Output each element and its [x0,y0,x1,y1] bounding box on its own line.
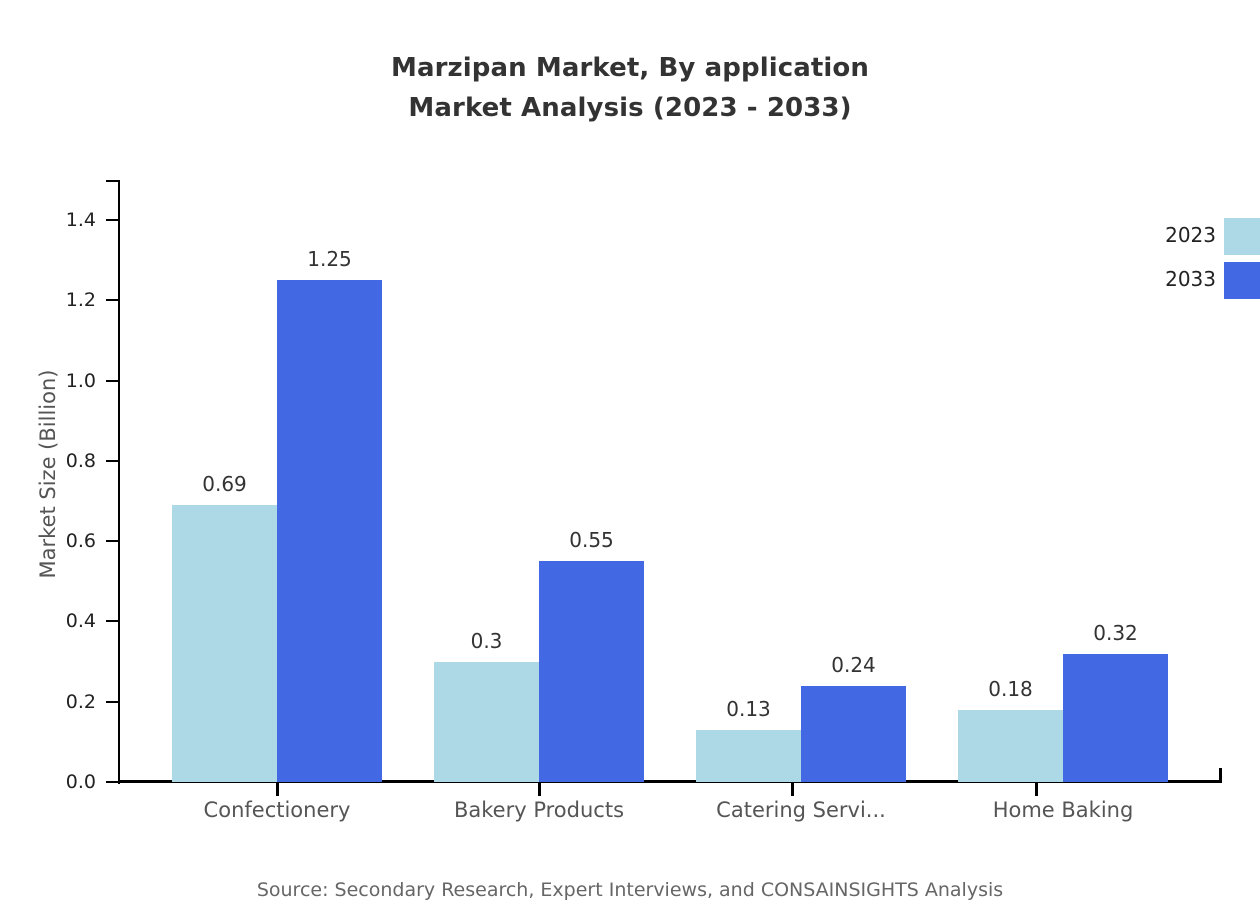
legend-color-swatch [1224,262,1260,299]
x-axis-category-label: Catering Servi... [716,795,886,825]
legend-item-2033[interactable]: 2033 [1100,260,1260,300]
chart-title-line-2: Market Analysis (2023 - 2033) [0,88,1260,128]
legend-label: 2023 [1100,222,1216,248]
y-tick-label: 0.4 [0,608,96,634]
bar-2023-catering-servi- [696,730,801,782]
y-axis-spine [118,180,120,784]
bar-2033-bakery-products [539,561,644,782]
x-axis-category-label: Confectionery [204,795,351,825]
y-tick-label: 1.2 [0,287,96,313]
bar-2033-confectionery [277,280,382,782]
y-tick-mark [106,460,119,462]
legend-label: 2033 [1100,266,1216,292]
x-tick-mark [791,782,794,796]
bar-2023-confectionery [172,505,277,782]
y-tick-mark [106,540,119,542]
y-tick-mark [106,380,119,382]
legend-color-swatch [1224,218,1260,255]
y-tick-mark [106,620,119,622]
y-tick-label: 0.6 [0,528,96,554]
y-tick-label: 0.0 [0,769,96,795]
bar-value-label: 0.13 [726,696,771,722]
bar-value-label: 0.32 [1093,620,1138,646]
y-tick-mark [106,219,119,221]
bar-2033-catering-servi- [801,686,906,782]
y-tick-label: 0.2 [0,689,96,715]
bar-value-label: 1.25 [307,246,352,272]
legend-item-2023[interactable]: 2023 [1100,216,1260,256]
bar-value-label: 0.3 [471,628,503,654]
y-tick-label: 1.0 [0,368,96,394]
y-tick-mark [106,781,119,783]
bar-value-label: 0.24 [831,652,876,678]
chart-legend: 20232033 [1100,216,1260,306]
y-tick-label: 0.8 [0,448,96,474]
bar-value-label: 0.55 [569,527,614,553]
chart-source-note: Source: Secondary Research, Expert Inter… [0,876,1260,904]
x-axis-category-label: Bakery Products [454,795,624,825]
x-tick-mark [538,782,541,796]
bar-2023-bakery-products [434,662,539,782]
y-axis-top-cap [106,180,120,182]
x-tick-mark [1035,782,1038,796]
chart-figure: Marzipan Market, By application Market A… [0,0,1260,920]
x-axis-end-cap [1219,768,1222,783]
x-axis-category-label: Home Baking [993,795,1134,825]
x-tick-mark [276,782,279,796]
y-tick-mark [106,701,119,703]
bar-2023-home-baking [958,710,1063,782]
bar-value-label: 0.18 [988,676,1033,702]
bar-value-label: 0.69 [202,471,247,497]
y-tick-label: 1.4 [0,207,96,233]
bar-2033-home-baking [1063,654,1168,782]
chart-title-line-1: Marzipan Market, By application [391,53,869,83]
y-tick-mark [106,299,119,301]
chart-title: Marzipan Market, By application Market A… [0,48,1260,128]
